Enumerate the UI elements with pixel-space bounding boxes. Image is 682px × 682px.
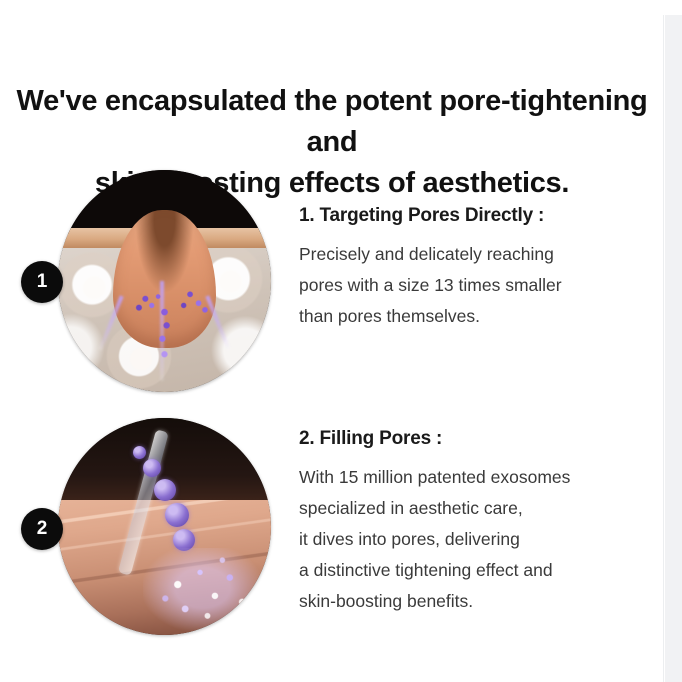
step-1-body-line-1: Precisely and delicately reaching <box>299 239 629 270</box>
headline-line-1: We've encapsulated the potent pore-tight… <box>17 85 648 158</box>
step-2-body-line-3: it dives into pores, delivering <box>299 524 629 555</box>
step-1-body: Precisely and delicately reaching pores … <box>299 239 629 332</box>
step-2-image-container: 2 <box>58 418 271 635</box>
exosome-applicator-illustration <box>58 418 271 635</box>
step-2-body-line-5: skin-boosting benefits. <box>299 586 629 617</box>
step-2-text-column: 2. Filling Pores : With 15 million paten… <box>299 428 629 617</box>
step-1-title: 1. Targeting Pores Directly : <box>299 205 629 227</box>
promo-page: We've encapsulated the potent pore-tight… <box>0 0 682 682</box>
illustration-exosome-spray <box>143 548 267 635</box>
illustration-bead-5 <box>133 446 146 459</box>
illustration-bead-3 <box>165 503 189 527</box>
step-2-body-line-4: a distinctive tightening effect and <box>299 555 629 586</box>
step-2-body-line-1: With 15 million patented exosomes <box>299 462 629 493</box>
illustration-bead-2 <box>154 479 176 501</box>
step-row-2: 2 2. Filling Pores : With 15 million pat… <box>0 418 682 644</box>
step-1-body-line-2: pores with a size 13 times smaller <box>299 270 629 301</box>
step-1-number-badge: 1 <box>21 261 63 303</box>
step-1-body-line-3: than pores themselves. <box>299 301 629 332</box>
illustration-exosome-particles <box>58 170 271 392</box>
step-2-body: With 15 million patented exosomes specia… <box>299 462 629 617</box>
step-2-title: 2. Filling Pores : <box>299 428 629 450</box>
pore-cross-section-illustration <box>58 170 271 392</box>
step-2-number-badge: 2 <box>21 508 63 550</box>
step-row-1: 1 1. Targeting Pores Directly : Precisel… <box>0 170 682 400</box>
step-1-text-column: 1. Targeting Pores Directly : Precisely … <box>299 205 629 332</box>
step-1-image-container: 1 <box>58 170 271 392</box>
step-2-body-line-2: specialized in aesthetic care, <box>299 493 629 524</box>
